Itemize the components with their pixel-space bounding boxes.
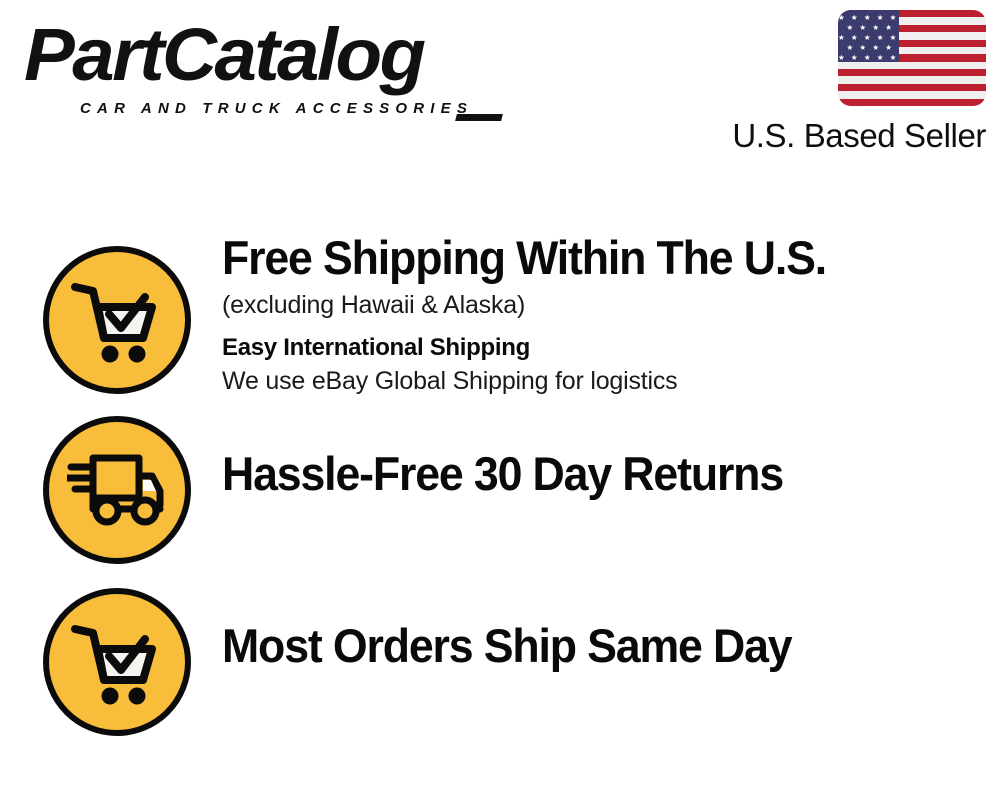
us-based-seller-label: U.S. Based Seller [716,117,986,155]
flag-stars: ★ ★ ★ ★ ★ ★ ★ ★ ★ ★ ★ ★ ★ ★ ★ ★ ★ ★ ★ ★ … [838,10,899,62]
us-based-seller-badge: ★ ★ ★ ★ ★ ★ ★ ★ ★ ★ ★ ★ ★ ★ ★ ★ ★ ★ ★ ★ … [716,10,986,155]
benefit-text-block: Free Shipping Within The U.S. (excluding… [222,230,982,398]
logo-swash-decoration [455,114,503,121]
benefit-row-same-day-ship: Most Orders Ship Same Day [0,572,1000,744]
delivery-truck-icon [43,416,191,564]
benefit-subhead: Easy International Shipping [222,332,982,364]
brand-tagline: CAR AND TRUCK ACCESSORIES [80,100,473,117]
benefit-headline: Most Orders Ship Same Day [222,618,944,673]
benefit-subnote: We use eBay Global Shipping for logistic… [222,365,982,398]
shopping-cart-check-icon [43,246,191,394]
benefit-headline: Hassle-Free 30 Day Returns [222,446,944,501]
page-header: PartCatalog CAR AND TRUCK ACCESSORIES ★ … [0,0,1000,175]
us-flag-icon: ★ ★ ★ ★ ★ ★ ★ ★ ★ ★ ★ ★ ★ ★ ★ ★ ★ ★ ★ ★ … [838,10,986,106]
benefit-subline: (excluding Hawaii & Alaska) [222,288,982,322]
benefit-text-block: Most Orders Ship Same Day [222,618,982,673]
benefit-row-returns: Hassle-Free 30 Day Returns [0,400,1000,572]
benefit-headline: Free Shipping Within The U.S. [222,230,944,285]
benefit-row-free-shipping: Free Shipping Within The U.S. (excluding… [0,230,1000,402]
benefit-text-block: Hassle-Free 30 Day Returns [222,446,982,501]
brand-wordmark: PartCatalog [24,18,508,92]
brand-logo[interactable]: PartCatalog CAR AND TRUCK ACCESSORIES [24,18,494,113]
shopping-cart-check-icon [43,588,191,736]
